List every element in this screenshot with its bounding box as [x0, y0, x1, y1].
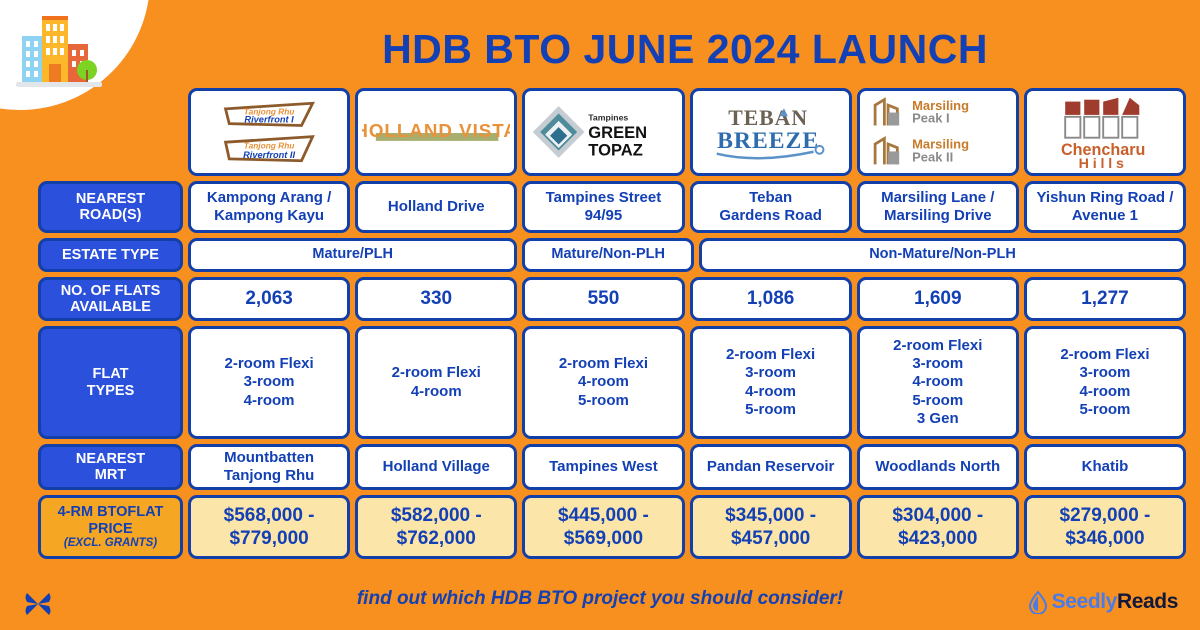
cell-line: Khatib [1082, 458, 1129, 476]
cell-line: 4-room [411, 383, 462, 401]
table-cell-estate: Non-Mature/Non-PLH [699, 238, 1186, 272]
cell-line: Pandan Reservoir [707, 458, 835, 476]
table-row-nearest-mrt: NEARESTMRT MountbattenTanjong RhuHolland… [38, 444, 1186, 490]
table-row-logos: Tanjong Rhu Riverfront I Tanjong Rhu Riv… [38, 88, 1186, 176]
cell-line: 4-room [244, 392, 295, 410]
table-cell: 2-room Flexi3-room4-room5-room [690, 326, 852, 439]
table-cell: $445,000 -$569,000 [522, 495, 684, 559]
label-line: MRT [95, 467, 126, 483]
cell-line: Holland Village [383, 458, 490, 476]
cell-line: 3-room [1080, 364, 1131, 382]
cell-line: Avenue 1 [1072, 207, 1138, 225]
cell-line: $304,000 - [892, 504, 983, 527]
cell-line: $423,000 [898, 527, 977, 550]
table-cell: 1,086 [690, 277, 852, 321]
svg-text:TOPAZ: TOPAZ [589, 141, 644, 160]
table-row-estate-type: ESTATE TYPE Mature/PLHMature/Non-PLHNon-… [38, 238, 1186, 272]
table-cell: 2-room Flexi3-room4-room5-room3 Gen [857, 326, 1019, 439]
table-row-flat-types: FLATTYPES 2-room Flexi3-room4-room2-room… [38, 326, 1186, 439]
cell-line: 2-room Flexi [1060, 346, 1149, 364]
table-cell: 1,609 [857, 277, 1019, 321]
cell-line: $569,000 [564, 527, 643, 550]
tanjong-rhu-riverfront-logo: Tanjong Rhu Riverfront I Tanjong Rhu Riv… [195, 94, 343, 170]
bto-comparison-table: Tanjong Rhu Riverfront I Tanjong Rhu Riv… [38, 88, 1186, 564]
table-cell: Holland Village [355, 444, 517, 490]
row-label-flats-available: NO. OF FLATSAVAILABLE [38, 277, 183, 321]
label-line: NEAREST [76, 451, 145, 467]
cell-line: 2-room Flexi [726, 346, 815, 364]
table-cell: 330 [355, 277, 517, 321]
row-label-nearest-mrt: NEARESTMRT [38, 444, 183, 490]
tampines-green-topaz-logo: Tampines GREEN TOPAZ [529, 94, 677, 170]
table-cell: Tampines Street94/95 [522, 181, 684, 233]
project-logo-cell: Tampines GREEN TOPAZ [522, 88, 684, 176]
cell-line: $779,000 [229, 527, 308, 550]
cell-line: Mountbatten [224, 449, 314, 467]
table-cell: 2-room Flexi4-room [355, 326, 517, 439]
cell-line: 3-room [912, 355, 963, 373]
table-cell: TebanGardens Road [690, 181, 852, 233]
cell-line: $346,000 [1065, 527, 1144, 550]
table-cell: 1,277 [1024, 277, 1186, 321]
table-cell: Marsiling Lane /Marsiling Drive [857, 181, 1019, 233]
cell-line: $457,000 [731, 527, 810, 550]
cell-line: 2-room Flexi [893, 337, 982, 355]
brand-text-part1: Seedly [1052, 590, 1117, 613]
table-cell: Pandan Reservoir [690, 444, 852, 490]
svg-text:GREEN: GREEN [589, 123, 648, 142]
table-cell: Holland Drive [355, 181, 517, 233]
cell-line: 3-room [745, 364, 796, 382]
cell-line: 5-room [1080, 401, 1131, 419]
cell-line: Holland Drive [388, 198, 485, 216]
cell-line: Tampines Street [546, 189, 662, 207]
table-cell: $582,000 -$762,000 [355, 495, 517, 559]
table-cell: Woodlands North [857, 444, 1019, 490]
flats-cells: 2,0633305501,0861,6091,277 [188, 277, 1186, 321]
table-cell-estate: Mature/PLH [188, 238, 517, 272]
cell-line: 4-room [1080, 383, 1131, 401]
cell-line: 4-room [912, 373, 963, 391]
holland-vista-logo: HOLLAND VISTA [362, 94, 510, 170]
cell-line: Kampong Kayu [214, 207, 324, 225]
cell-line: Teban [749, 189, 792, 207]
project-logo-cell: TEBAN BREEZE [690, 88, 852, 176]
label-line: NEAREST [76, 191, 145, 207]
cell-line: Tanjong Rhu [224, 467, 315, 485]
cell-line: 4-room [745, 383, 796, 401]
svg-text:Hills: Hills [1078, 156, 1127, 170]
table-row-nearest-roads: NEARESTROAD(S) Kampong Arang /Kampong Ka… [38, 181, 1186, 233]
table-row-flats-available: NO. OF FLATSAVAILABLE 2,0633305501,0861,… [38, 277, 1186, 321]
cell-line: $762,000 [397, 527, 476, 550]
table-cell-estate: Mature/Non-PLH [522, 238, 694, 272]
brand-text-part2: Reads [1117, 590, 1178, 613]
flat-types-cells: 2-room Flexi3-room4-room2-room Flexi4-ro… [188, 326, 1186, 439]
footer: find out which HDB BTO project you shoul… [0, 578, 1200, 630]
svg-text:Tampines: Tampines [589, 113, 629, 123]
row-label-flat-types: FLATTYPES [38, 326, 183, 439]
table-cell: MountbattenTanjong Rhu [188, 444, 350, 490]
roads-cells: Kampong Arang /Kampong KayuHolland Drive… [188, 181, 1186, 233]
table-cell: Yishun Ring Road /Avenue 1 [1024, 181, 1186, 233]
cell-line: 2-room Flexi [392, 364, 481, 382]
table-row-price: 4-RM BTOFLAT PRICE (EXCL. GRANTS) $568,0… [38, 495, 1186, 559]
label-line: ESTATE TYPE [62, 247, 159, 263]
table-cell: 550 [522, 277, 684, 321]
teban-breeze-logo: TEBAN BREEZE [697, 94, 845, 170]
cell-line: 2-room Flexi [224, 355, 313, 373]
city-buildings-illustration [8, 6, 118, 90]
cell-line: Tampines West [549, 458, 658, 476]
cell-line: $279,000 - [1060, 504, 1151, 527]
label-line: 4-RM BTO [58, 504, 128, 520]
svg-text:Riverfront I: Riverfront I [244, 115, 294, 125]
label-line: ROAD(S) [79, 207, 141, 223]
cell-line: 94/95 [585, 207, 623, 225]
cell-line: $582,000 - [391, 504, 482, 527]
svg-text:Peak I: Peak I [912, 111, 949, 126]
row-label-estate-type: ESTATE TYPE [38, 238, 183, 272]
footer-tagline: find out which HDB BTO project you shoul… [0, 588, 1200, 610]
cell-line: $568,000 - [224, 504, 315, 527]
cell-line: 4-room [578, 373, 629, 391]
table-cell: 2-room Flexi3-room4-room [188, 326, 350, 439]
cell-line: $345,000 - [725, 504, 816, 527]
table-cell: $568,000 -$779,000 [188, 495, 350, 559]
mrt-cells: MountbattenTanjong RhuHolland VillageTam… [188, 444, 1186, 490]
project-logo-cell: Marsiling Peak I Marsiling Peak II [857, 88, 1019, 176]
cell-line: Marsiling Lane / [881, 189, 994, 207]
seedly-reads-brand[interactable]: SeedlyReads [1028, 590, 1178, 614]
estate-cells: Mature/PLHMature/Non-PLHNon-Mature/Non-P… [188, 238, 1186, 272]
project-logo-cell: Tanjong Rhu Riverfront I Tanjong Rhu Riv… [188, 88, 350, 176]
project-logo-cell: Chencharu Hills [1024, 88, 1186, 176]
svg-text:Riverfront II: Riverfront II [243, 150, 295, 160]
cell-line: Yishun Ring Road / [1036, 189, 1173, 207]
row-label-price-sub: (EXCL. GRANTS) [64, 537, 157, 550]
label-line: FLAT [93, 366, 129, 382]
cell-line: Gardens Road [719, 207, 822, 225]
svg-text:BREEZE: BREEZE [717, 128, 819, 154]
table-cell: Tampines West [522, 444, 684, 490]
label-line: AVAILABLE [70, 299, 151, 315]
cell-line: Kampong Arang / [207, 189, 331, 207]
project-logo-cell: HOLLAND VISTA [355, 88, 517, 176]
table-cell: $279,000 -$346,000 [1024, 495, 1186, 559]
svg-text:Peak II: Peak II [912, 150, 953, 165]
row-label-spacer [38, 88, 183, 176]
table-cell: $304,000 -$423,000 [857, 495, 1019, 559]
row-label-price: 4-RM BTOFLAT PRICE (EXCL. GRANTS) [38, 495, 183, 559]
svg-text:HOLLAND VISTA: HOLLAND VISTA [362, 120, 510, 141]
cell-line: $445,000 - [558, 504, 649, 527]
cell-line: Woodlands North [875, 458, 1000, 476]
cell-line: 3 Gen [917, 410, 959, 428]
table-cell: 2-room Flexi3-room4-room5-room [1024, 326, 1186, 439]
cell-line: 5-room [745, 401, 796, 419]
cell-line: Marsiling Drive [884, 207, 992, 225]
cell-line: 5-room [578, 392, 629, 410]
table-cell: Kampong Arang /Kampong Kayu [188, 181, 350, 233]
table-cell: 2-room Flexi4-room5-room [522, 326, 684, 439]
table-cell: 2,063 [188, 277, 350, 321]
cell-line: 3-room [244, 373, 295, 391]
price-cells: $568,000 -$779,000$582,000 -$762,000$445… [188, 495, 1186, 559]
row-label-nearest-roads: NEARESTROAD(S) [38, 181, 183, 233]
table-cell: Khatib [1024, 444, 1186, 490]
chencharu-hills-logo: Chencharu Hills [1031, 94, 1179, 170]
cell-line: 5-room [912, 392, 963, 410]
table-cell: $345,000 -$457,000 [690, 495, 852, 559]
marsiling-peak-logo: Marsiling Peak I Marsiling Peak II [864, 94, 1012, 170]
brand-text: SeedlyReads [1052, 590, 1178, 614]
page-title: HDB BTO JUNE 2024 LAUNCH [180, 18, 1190, 80]
label-line: NO. OF FLATS [61, 283, 161, 299]
seedly-droplet-icon [1028, 590, 1048, 614]
row-label-price-main: 4-RM BTOFLAT PRICE [43, 504, 178, 536]
svg-text:TEBAN: TEBAN [728, 106, 808, 130]
label-line: TYPES [87, 383, 135, 399]
cell-line: 2-room Flexi [559, 355, 648, 373]
